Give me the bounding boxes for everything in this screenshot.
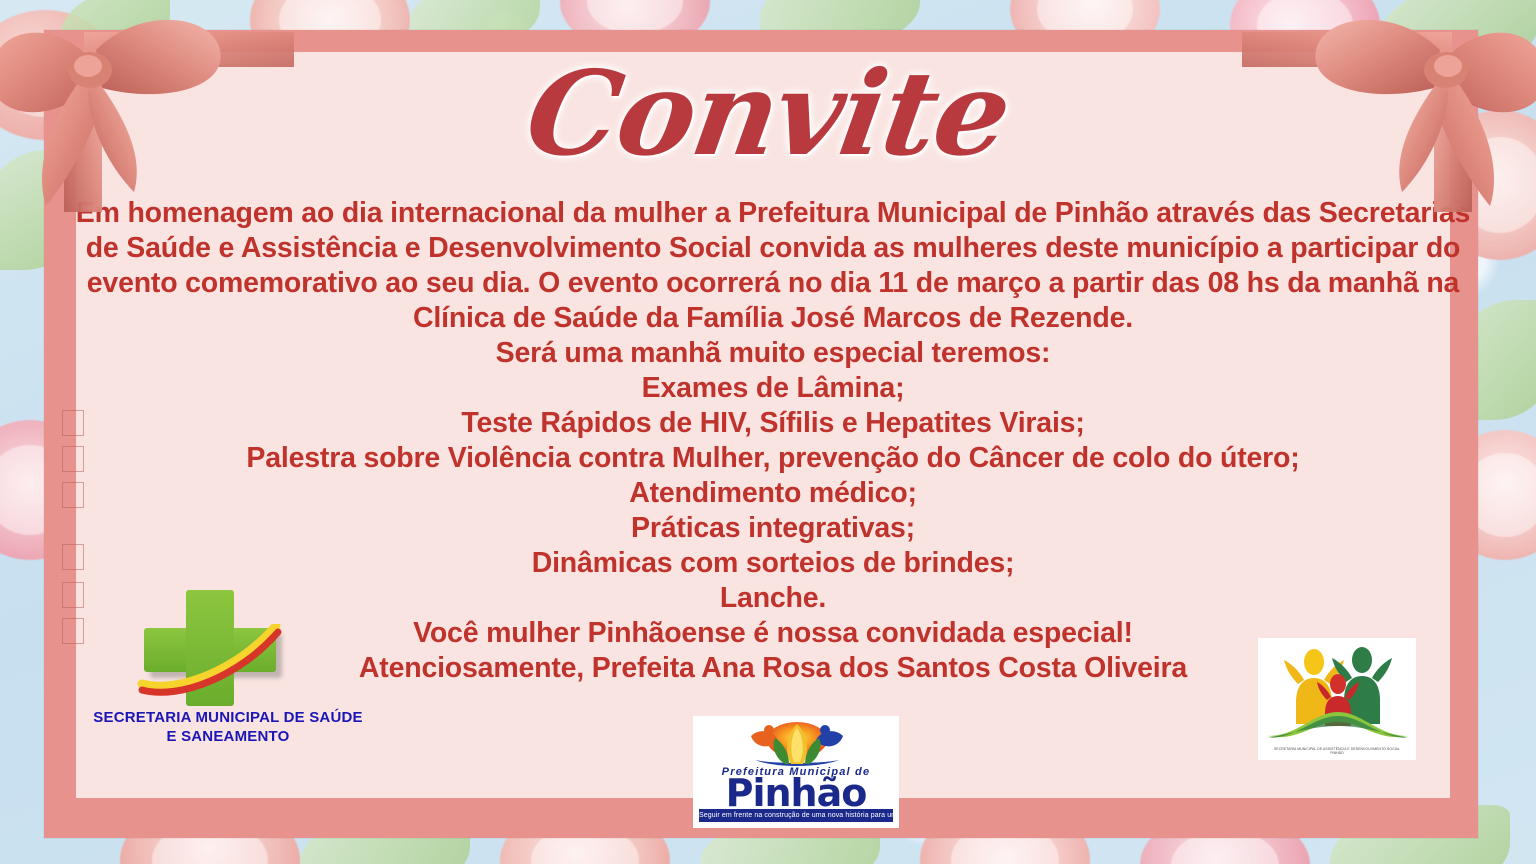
- activity-line: Dinâmicas com sorteios de brindes;: [62, 546, 1484, 581]
- activity-line: Práticas integrativas;: [62, 511, 1484, 546]
- health-logo-label: SECRETARIA MUNICIPAL DE SAÚDE E SANEAMEN…: [78, 708, 378, 746]
- ribbon-bow-icon: [0, 0, 314, 242]
- activity-line: Palestra sobre Violência contra Mulher, …: [62, 441, 1484, 476]
- ribbon-bow-icon: [1222, 0, 1536, 242]
- social-logo-caption-line-2: PINHÃO: [1258, 751, 1416, 756]
- swoosh-icon: [134, 624, 284, 696]
- pinhao-city-hall-logo: Prefeitura Municipal de Pinhão Seguir em…: [693, 716, 899, 828]
- activity-line: Exames de Lâmina;: [62, 371, 1484, 406]
- body-line-intro: Será uma manhã muito especial teremos:: [62, 336, 1484, 371]
- pinhao-logo-name: Pinhão: [693, 774, 899, 812]
- social-assistance-logo: SECRETARIA MUNICIPAL DE ASSISTÊNCIA E DE…: [1258, 638, 1416, 760]
- pinhao-logo-tagline: Seguir em frente na construção de uma no…: [699, 809, 893, 822]
- activity-line: Atendimento médico;: [62, 476, 1484, 511]
- social-logo-caption: SECRETARIA MUNICIPAL DE ASSISTÊNCIA E DE…: [1258, 747, 1416, 756]
- activity-line: Teste Rápidos de HIV, Sífilis e Hepatite…: [62, 406, 1484, 441]
- three-people-icon: [1258, 640, 1416, 744]
- health-logo-line-2: E SANEAMENTO: [78, 727, 378, 746]
- health-secretariat-logo: SECRETARIA MUNICIPAL DE SAÚDE E SANEAMEN…: [78, 588, 378, 753]
- green-cross-icon: [130, 588, 290, 706]
- corn-cob-emblem-icon: [745, 720, 849, 766]
- health-logo-line-1: SECRETARIA MUNICIPAL DE SAÚDE: [78, 708, 378, 727]
